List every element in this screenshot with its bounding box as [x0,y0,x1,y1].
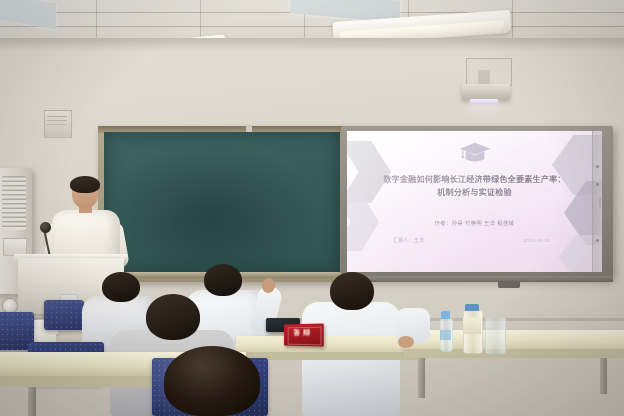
audience-head [204,264,242,296]
placard-text: 答辩 [284,328,324,338]
desk-leg [418,358,425,398]
slide-date: 2024-06-25 [524,238,551,243]
wall-junction-box-vents [47,116,67,117]
bottle-cap [465,304,479,311]
audience-head [146,294,200,340]
audience-head [330,272,374,310]
slide-title: 数字金融如何影响长江经济带绿色全要素生产率： 机制分析与实证检验 [361,173,588,199]
bottle-cap [441,311,450,319]
display-bottom-bezel [341,276,613,282]
slide-title-line1: 数字金融如何影响长江经济带绿色全要素生产率： [361,173,588,186]
audience-head [102,272,140,302]
desk-leg [28,387,36,416]
name-placard: 答辩 [284,323,324,346]
slide-presenter-line: 汇报人：王洋 [393,237,424,244]
audience-head [164,346,260,416]
graduation-cap-icon [458,141,492,165]
display-side-controls[interactable]: SMART [592,131,602,272]
desk-leg [600,358,607,394]
power-button[interactable] [596,165,599,168]
ceiling-projector [462,84,510,100]
bottle-label [463,318,481,334]
slide-title-line2: 机制分析与实证检验 [361,186,588,199]
presentation-slide[interactable]: 数字金融如何影响长江经济带绿色全要素生产率： 机制分析与实证检验 作者：孙昊 付… [347,131,602,272]
air-conditioner-grille [2,176,26,230]
classroom-photo: 数字金融如何影响长江经济带绿色全要素生产率： 机制分析与实证检验 作者：孙昊 付… [0,0,624,416]
source-button[interactable] [596,183,599,186]
menu-button[interactable] [596,239,599,242]
microphone-icon[interactable] [40,222,51,233]
display-brand-label: SMART [594,197,601,208]
blackboard [104,132,340,274]
wall-junction-box [44,110,72,138]
presenter-hair [70,176,100,193]
audience-hand [398,336,414,348]
desk-front-panel [404,349,624,358]
bottle-label [440,330,451,340]
chair[interactable] [44,300,84,330]
projector-beam [468,102,500,120]
display-wall-bracket [498,281,520,288]
projector-arm [478,70,490,84]
slide-authors: 作者：孙昊 付艳明 王洋 程佳域 [347,219,602,227]
drinking-cup[interactable] [485,318,506,354]
desk [404,330,624,349]
wall-ceiling-shadow [0,38,624,52]
